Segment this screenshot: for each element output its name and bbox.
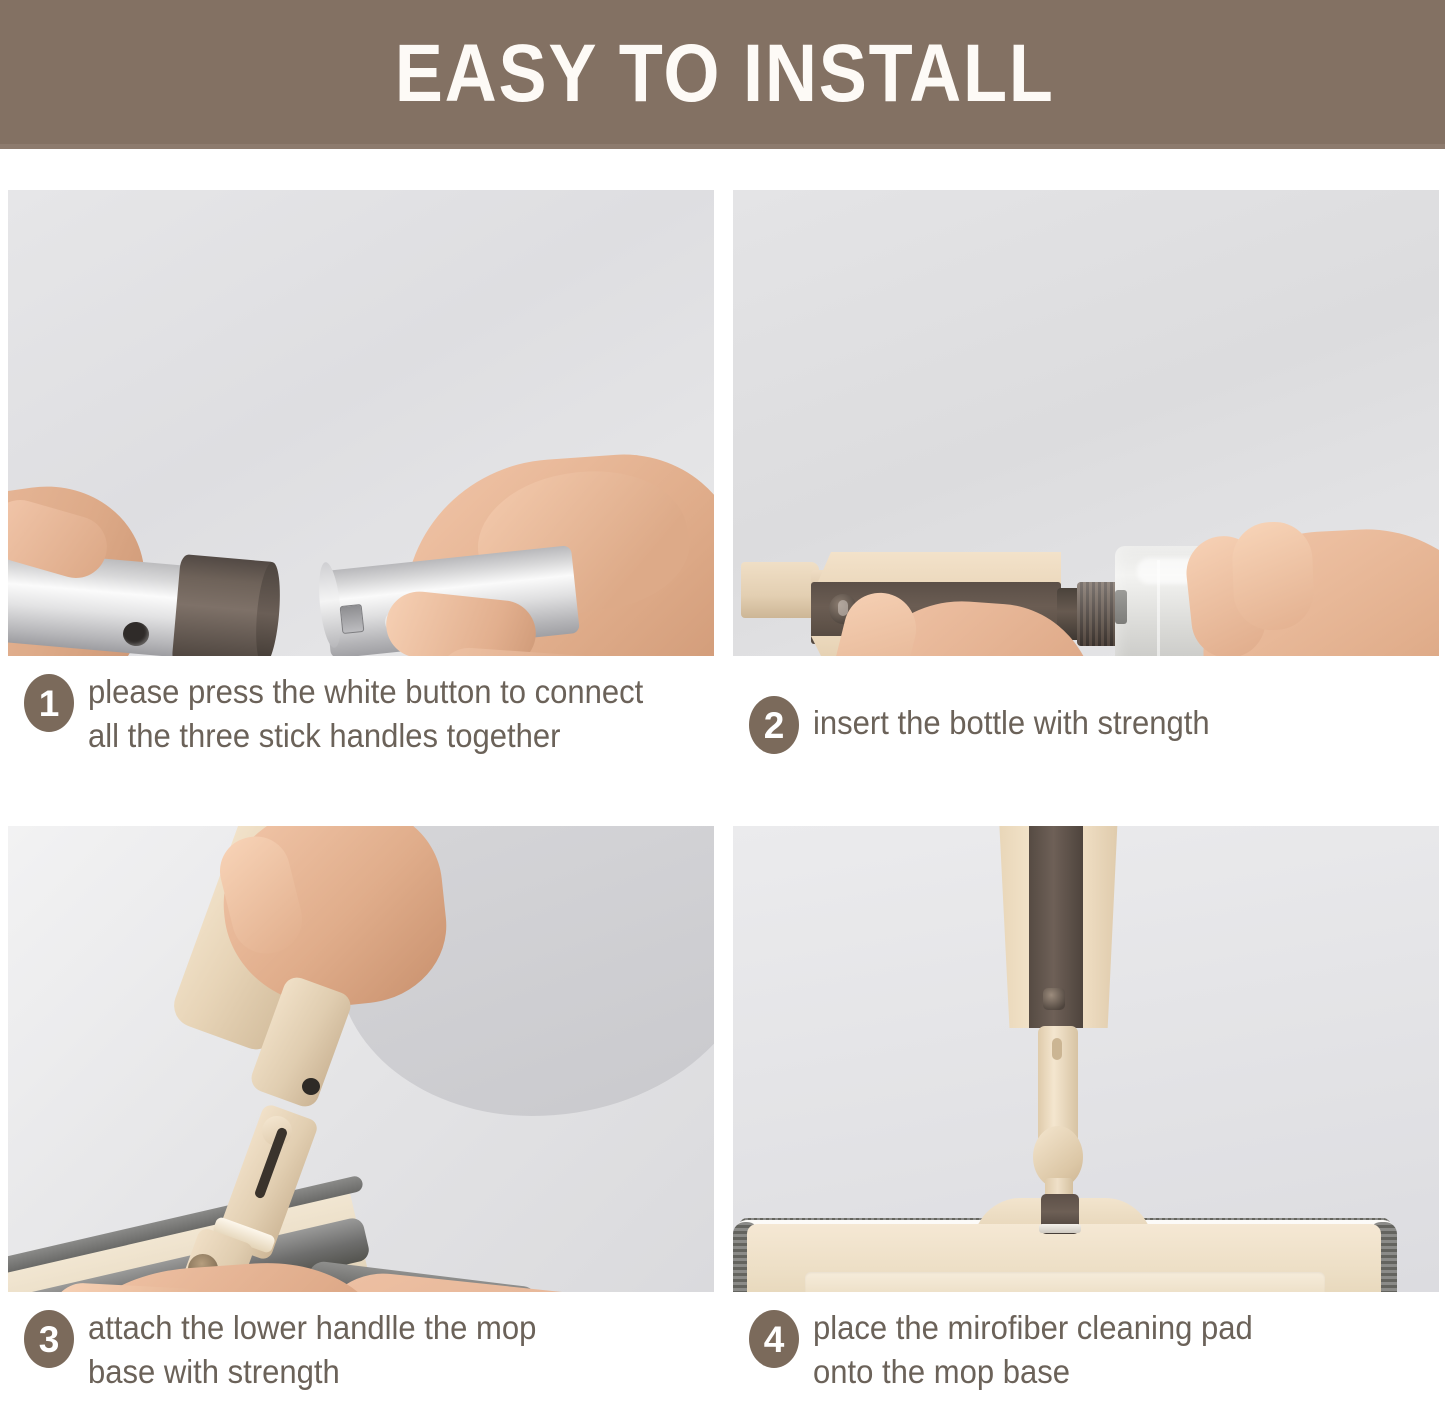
steps-grid: 1 please press the white button to conne…: [0, 172, 1445, 1424]
step-caption-text: attach the lower handlle the mop base wi…: [88, 1306, 536, 1394]
handle-lock-hole: [302, 1078, 320, 1095]
step-2-cell: 2 insert the bottle with strength: [733, 190, 1439, 796]
handle-button: [1043, 988, 1065, 1010]
place-cleaning-pad-photo: [733, 826, 1439, 1292]
step-number-badge: 2: [749, 696, 799, 754]
step-number-badge: 4: [749, 1310, 799, 1368]
pole-alignment-slot: [340, 604, 365, 634]
step-number-badge: 3: [24, 1310, 74, 1368]
header-underline: [0, 144, 1445, 149]
mop-base-inner-panel: [805, 1272, 1325, 1292]
step-caption-text: please press the white button to connect…: [88, 670, 643, 758]
step-3-cell: 3 attach the lower handlle the mop base …: [8, 826, 714, 1424]
step-caption-text: insert the bottle with strength: [813, 701, 1210, 745]
handle-spout: [741, 562, 819, 618]
step-1-caption: 1 please press the white button to conne…: [8, 656, 714, 796]
bottle-tab: [1115, 590, 1127, 624]
base-clip-band: [1039, 1224, 1081, 1233]
step-2-caption: 2 insert the bottle with strength: [733, 656, 1439, 796]
bottle-seam: [1157, 560, 1160, 656]
handle-stem-slot: [1052, 1038, 1062, 1060]
page-title: EASY TO INSTALL: [391, 33, 1054, 115]
step-number-badge: 1: [24, 674, 74, 732]
attach-lower-handle-photo: [8, 826, 714, 1292]
header-banner: EASY TO INSTALL: [0, 0, 1445, 148]
connect-stick-handles-photo: [8, 190, 714, 656]
infographic-page: EASY TO INSTALL: [0, 0, 1445, 1424]
step-3-caption: 3 attach the lower handlle the mop base …: [8, 1292, 714, 1424]
step-4-cell: 4 place the mirofiber cleaning pad onto …: [733, 826, 1439, 1424]
right-middle-finger: [1231, 521, 1315, 632]
step-caption-text: place the mirofiber cleaning pad onto th…: [813, 1306, 1253, 1394]
insert-bottle-photo: [733, 190, 1439, 656]
step-4-caption: 4 place the mirofiber cleaning pad onto …: [733, 1292, 1439, 1424]
step-1-cell: 1 please press the white button to conne…: [8, 190, 714, 796]
